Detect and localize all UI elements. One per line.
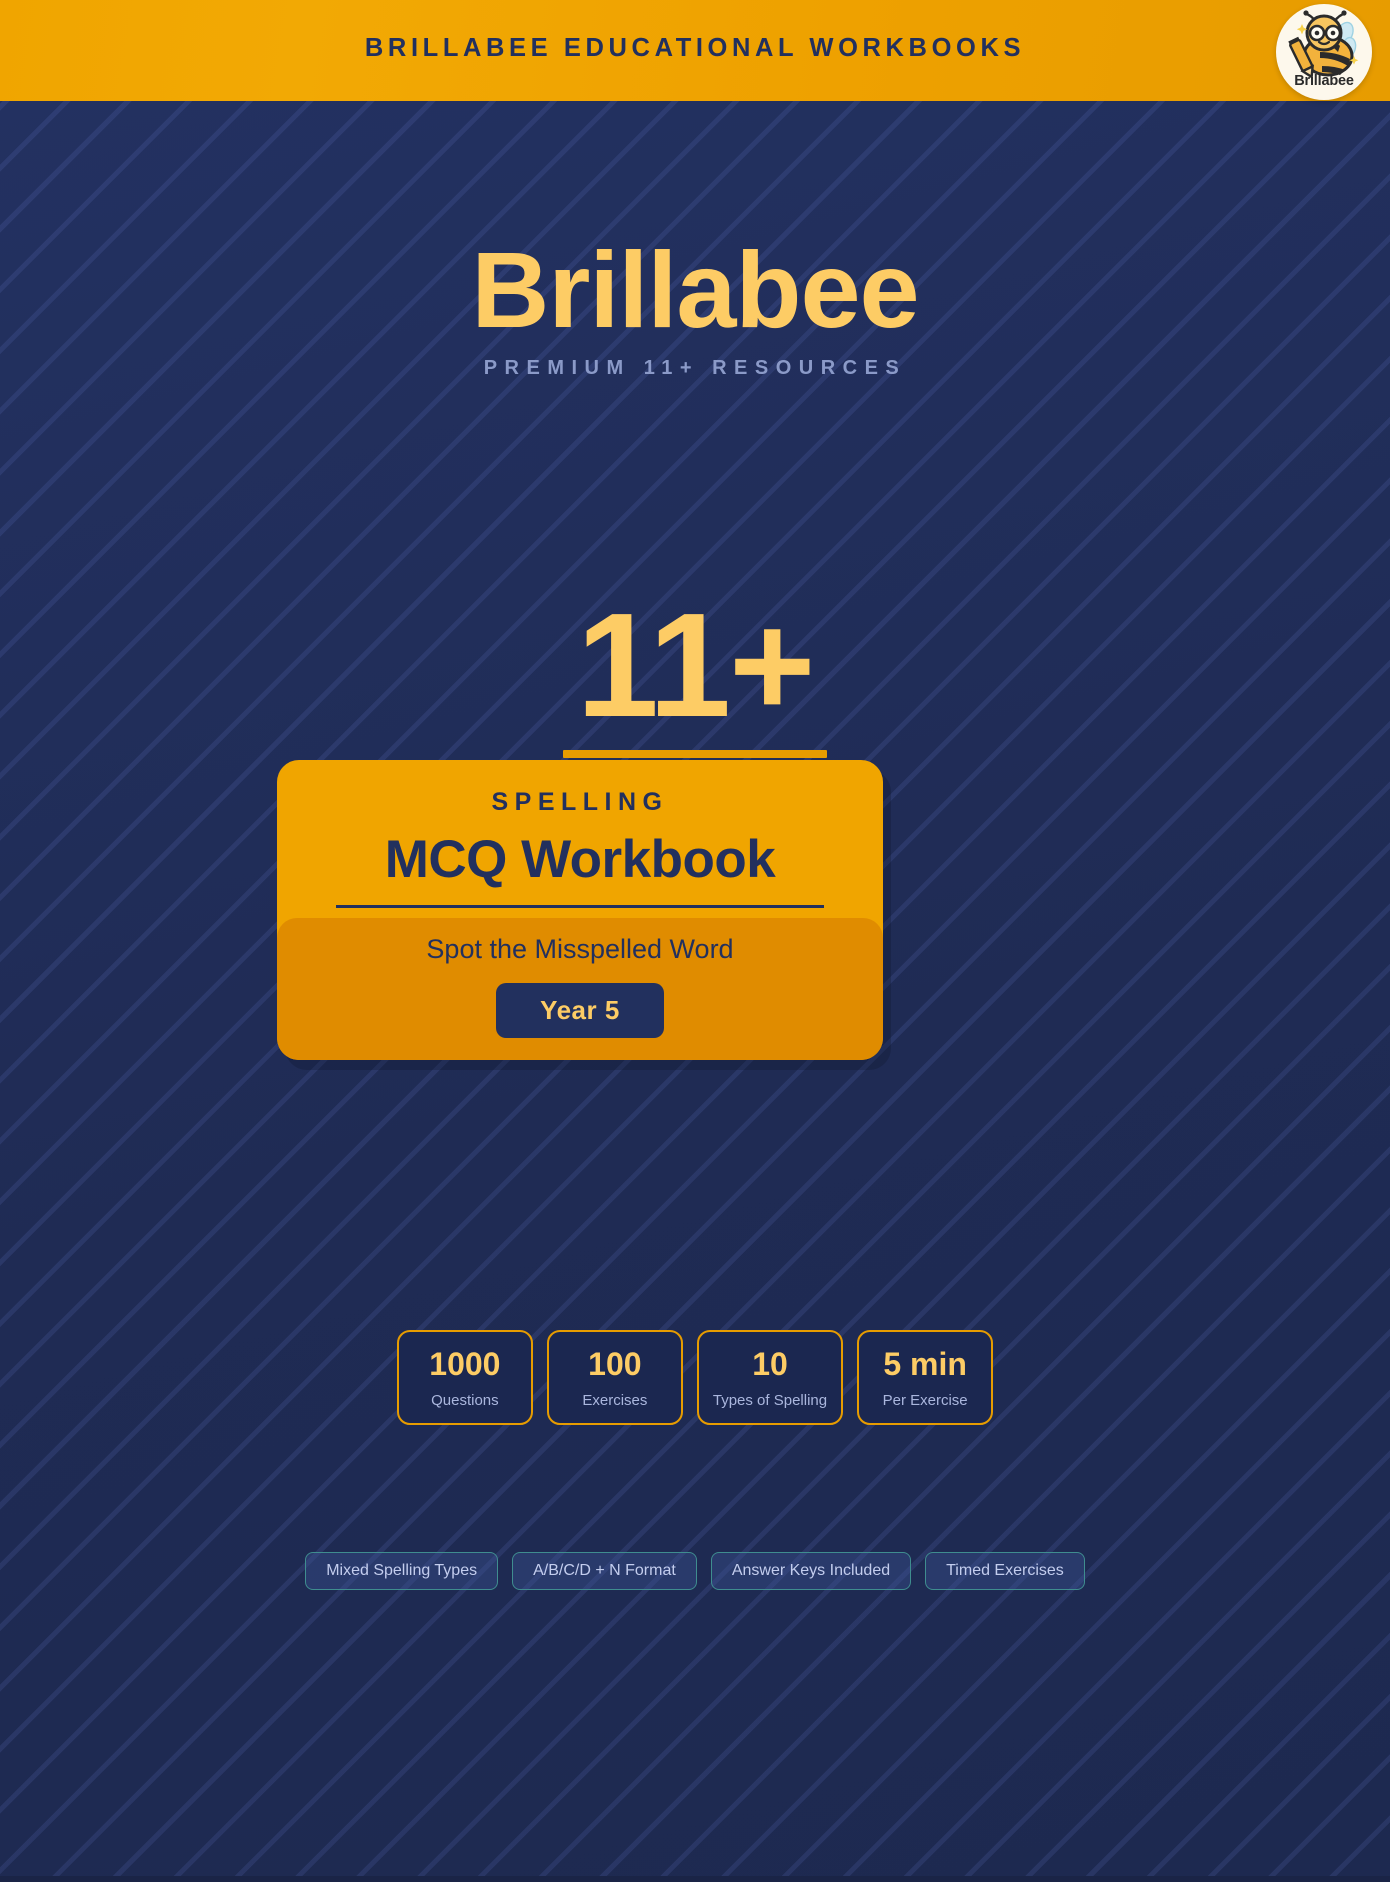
hero-level-number: 11+ bbox=[573, 592, 818, 750]
stat-box-exercises: 100 Exercises bbox=[547, 1330, 683, 1425]
hero-block: 11+ bbox=[0, 592, 1390, 758]
stat-box-questions: 1000 Questions bbox=[397, 1330, 533, 1425]
card-title: MCQ Workbook bbox=[311, 831, 849, 889]
stat-box-types-of-spelling: 10 Types of Spelling bbox=[697, 1330, 843, 1425]
header-title: BRILLABEE EDUCATIONAL WORKBOOKS bbox=[0, 34, 1390, 63]
brand-block: Brillabee PREMIUM 11+ RESOURCES bbox=[0, 236, 1390, 380]
brand-name: Brillabee bbox=[0, 236, 1390, 344]
bottom-rule bbox=[0, 1876, 1390, 1882]
header-bar: BRILLABEE EDUCATIONAL WORKBOOKS bbox=[0, 0, 1390, 101]
feature-pill-abcd-n-format: A/B/C/D + N Format bbox=[512, 1552, 697, 1590]
feature-pill-timed-exercises: Timed Exercises bbox=[925, 1552, 1085, 1590]
brand-tagline: PREMIUM 11+ RESOURCES bbox=[0, 357, 1390, 380]
stat-box-per-exercise: 5 min Per Exercise bbox=[857, 1330, 993, 1425]
logo-wordmark: Brillabee bbox=[1276, 73, 1372, 89]
stat-label: Types of Spelling bbox=[713, 1392, 827, 1409]
hero-underline bbox=[563, 750, 827, 758]
feature-pill-answer-keys-included: Answer Keys Included bbox=[711, 1552, 911, 1590]
stat-label: Questions bbox=[413, 1392, 517, 1409]
stats-row: 1000 Questions 100 Exercises 10 Types of… bbox=[0, 1330, 1390, 1425]
feature-pills-row: Mixed Spelling Types A/B/C/D + N Format … bbox=[0, 1552, 1390, 1590]
card-bottom-band: Spot the Misspelled Word Year 5 bbox=[277, 918, 883, 1060]
workbook-cover-page: BRILLABEE EDUCATIONAL WORKBOOKS bbox=[0, 0, 1390, 1882]
card-subject-kicker: SPELLING bbox=[311, 788, 849, 817]
year-badge: Year 5 bbox=[496, 983, 664, 1038]
stat-label: Per Exercise bbox=[873, 1392, 977, 1409]
stat-label: Exercises bbox=[563, 1392, 667, 1409]
stat-value: 5 min bbox=[873, 1348, 977, 1380]
workbook-title-card: SPELLING MCQ Workbook Spot the Misspelle… bbox=[277, 760, 883, 1060]
card-subtitle: Spot the Misspelled Word bbox=[277, 934, 883, 965]
stat-value: 10 bbox=[713, 1348, 827, 1380]
stat-value: 100 bbox=[563, 1348, 667, 1380]
stat-value: 1000 bbox=[413, 1348, 517, 1380]
brillabee-logo-badge[interactable]: Brillabee bbox=[1276, 4, 1372, 100]
feature-pill-mixed-spelling-types: Mixed Spelling Types bbox=[305, 1552, 498, 1590]
card-divider bbox=[336, 905, 824, 908]
card-top-section: SPELLING MCQ Workbook bbox=[277, 760, 883, 908]
